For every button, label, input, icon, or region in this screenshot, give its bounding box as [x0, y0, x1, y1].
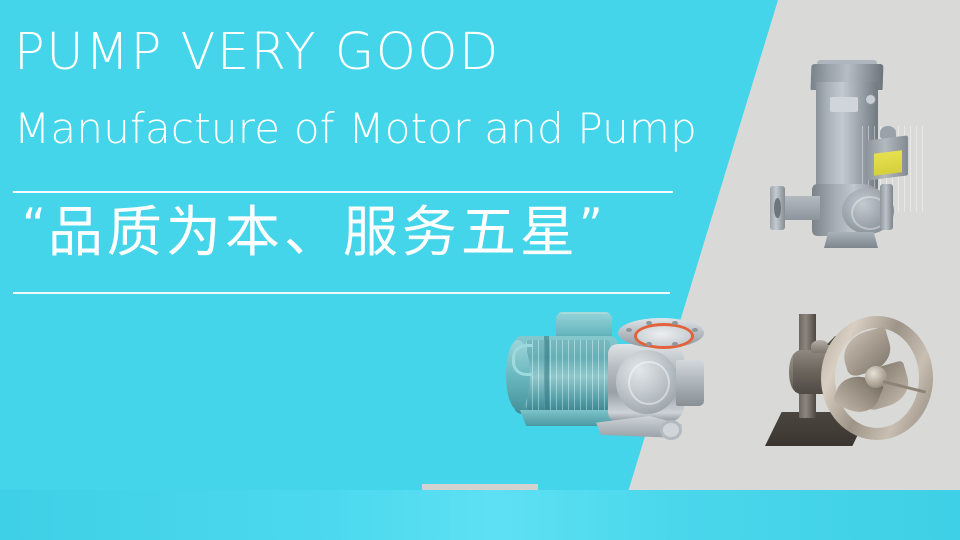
- divider-bottom: [13, 292, 670, 294]
- pump-inlet-flange: [770, 186, 785, 230]
- pump-terminal-label-yellow: [874, 150, 902, 175]
- product-image-horizontal-centrifugal-pump: [500, 310, 730, 460]
- close-quote-mark: ”: [579, 198, 605, 252]
- slogan-text: 品质为本、服务五星: [48, 200, 579, 264]
- open-quote-mark: “: [22, 198, 48, 252]
- bottom-color-band: [0, 490, 960, 540]
- mixer-propeller-hub: [865, 366, 887, 388]
- centrifugal-outlet-port: [676, 360, 704, 406]
- product-image-vertical-inline-pipeline-pump: [770, 52, 930, 252]
- centrifugal-flange-gasket-ring: [634, 323, 694, 349]
- centrifugal-volute: [616, 350, 678, 414]
- divider-top: [13, 191, 673, 193]
- centrifugal-foot-bolt-eye: [660, 420, 682, 440]
- pump-nameplate: [830, 97, 858, 112]
- centrifugal-motor-band: [544, 336, 549, 414]
- product-image-submersible-mixer: [765, 300, 940, 460]
- subtitle: Manufacture of Motor and Pump: [14, 106, 697, 152]
- flange-bolt-hole: [692, 328, 698, 332]
- pump-motor-badge: [865, 94, 876, 105]
- centrifugal-lifting-handle: [512, 344, 533, 376]
- centrifugal-motor-cooling-fins: [526, 340, 610, 410]
- flange-bolt-hole: [672, 321, 678, 325]
- slogan: “品质为本、服务五星”: [22, 197, 605, 267]
- flange-bolt-hole: [646, 321, 652, 325]
- flange-bolt-hole: [646, 342, 652, 346]
- page-title: PUMP VERY GOOD: [14, 26, 500, 80]
- flange-bolt-hole: [672, 342, 678, 346]
- flange-bolt-hole: [626, 328, 632, 332]
- pump-base-pedestal: [824, 232, 878, 248]
- promo-banner: PUMP VERY GOOD Manufacture of Motor and …: [0, 0, 960, 540]
- pump-outlet-flange: [880, 184, 893, 230]
